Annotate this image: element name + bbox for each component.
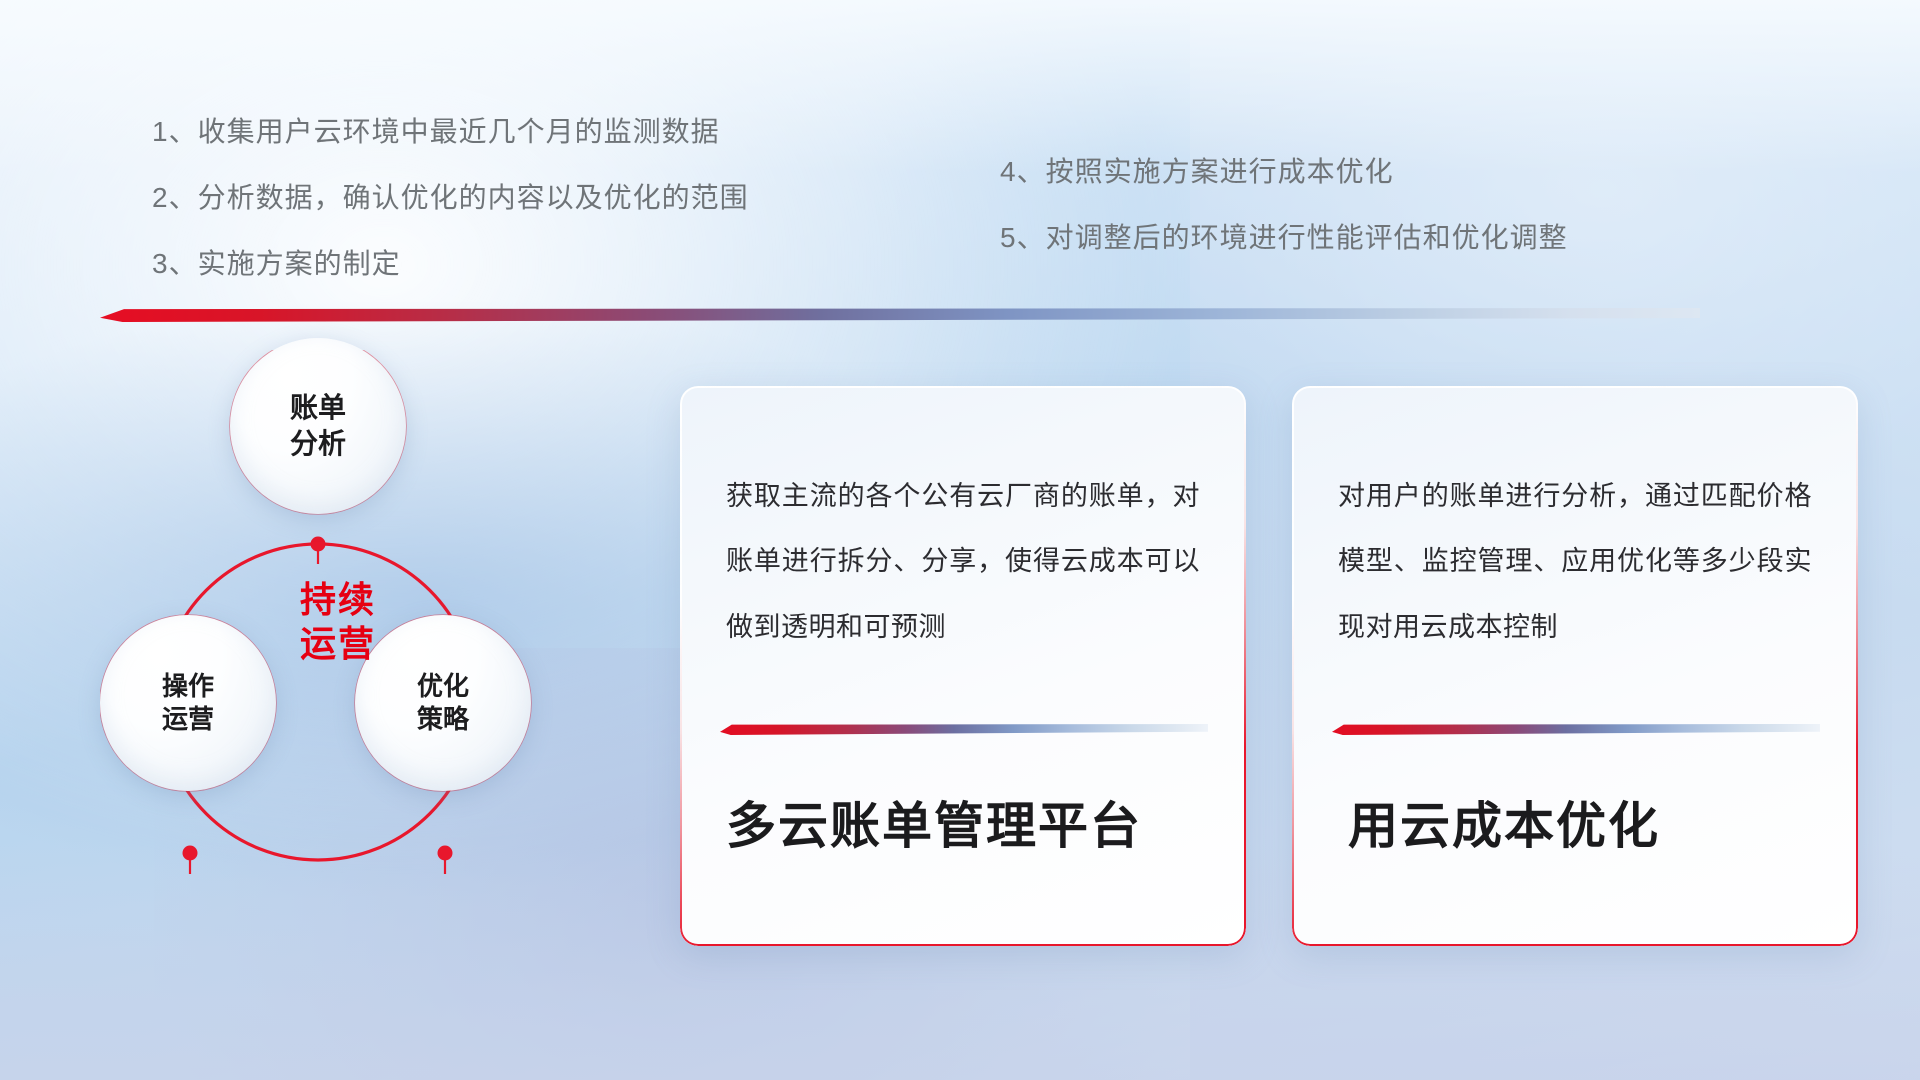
step-item-4: 4、按照实施方案进行成本优化	[1000, 158, 1568, 186]
feature-card-2-body: 对用户的账单进行分析，通过匹配价格模型、监控管理、应用优化等多少段实现对用云成本…	[1292, 386, 1858, 946]
cycle-diagram: 账单 分析 操作 运营 优化 策略 持续 运营	[100, 350, 660, 950]
section-divider	[100, 308, 1700, 322]
feature-card-2-description: 对用户的账单进行分析，通过匹配价格模型、监控管理、应用优化等多少段实现对用云成本…	[1338, 464, 1812, 660]
steps-list-left: 1、收集用户云环境中最近几个月的监测数据 2、分析数据，确认优化的内容以及优化的…	[152, 118, 749, 278]
steps-list-right: 4、按照实施方案进行成本优化 5、对调整后的环境进行性能评估和优化调整	[1000, 158, 1568, 252]
bubble-bill-analysis-line1: 账单	[290, 390, 346, 426]
cycle-center-label-line2: 运营	[258, 622, 418, 666]
feature-card-cloud-cost-optimization[interactable]: 对用户的账单进行分析，通过匹配价格模型、监控管理、应用优化等多少段实现对用云成本…	[1292, 386, 1858, 946]
step-item-1: 1、收集用户云环境中最近几个月的监测数据	[152, 118, 749, 146]
feature-card-1-accent	[720, 724, 1208, 735]
bubble-operations-line1: 操作	[162, 670, 214, 703]
bubble-optimization-strategy-line1: 优化	[417, 670, 469, 703]
slide-canvas: 1、收集用户云环境中最近几个月的监测数据 2、分析数据，确认优化的内容以及优化的…	[0, 0, 1920, 1080]
step-item-5: 5、对调整后的环境进行性能评估和优化调整	[1000, 224, 1568, 252]
feature-card-1-accent-bar	[720, 724, 1208, 735]
feature-card-2-accent-bar	[1332, 724, 1820, 735]
cycle-node-dot-top	[311, 537, 326, 552]
step-item-2: 2、分析数据，确认优化的内容以及优化的范围	[152, 184, 749, 212]
bubble-optimization-strategy-line2: 策略	[417, 703, 469, 736]
feature-card-1-title: 多云账单管理平台	[726, 796, 1206, 856]
feature-card-1-description: 获取主流的各个公有云厂商的账单，对账单进行拆分、分享，使得云成本可以做到透明和可…	[726, 464, 1200, 660]
bubble-bill-analysis-line2: 分析	[290, 426, 346, 462]
feature-card-1-body: 获取主流的各个公有云厂商的账单，对账单进行拆分、分享，使得云成本可以做到透明和可…	[680, 386, 1246, 946]
cycle-node-dot-right	[438, 846, 453, 861]
bubble-operations[interactable]: 操作 运营	[100, 615, 276, 791]
cycle-node-dot-left	[183, 846, 198, 861]
feature-card-multicloud-billing[interactable]: 获取主流的各个公有云厂商的账单，对账单进行拆分、分享，使得云成本可以做到透明和可…	[680, 386, 1246, 946]
feature-card-2-accent	[1332, 724, 1820, 735]
step-item-3: 3、实施方案的制定	[152, 250, 749, 278]
bubble-operations-line2: 运营	[162, 703, 214, 736]
cycle-center-label-line1: 持续	[258, 578, 418, 622]
bubble-bill-analysis[interactable]: 账单 分析	[230, 338, 406, 514]
section-divider-bar	[100, 308, 1700, 322]
feature-card-2-title: 用云成本优化	[1348, 796, 1828, 856]
cycle-center-label: 持续 运营	[258, 578, 418, 666]
